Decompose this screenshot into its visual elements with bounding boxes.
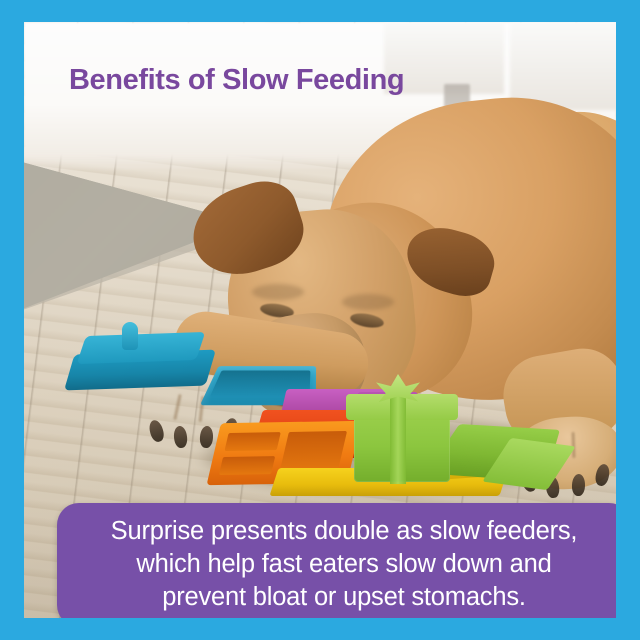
teal-feeder-top — [77, 332, 206, 364]
left-paw-claw-3 — [199, 426, 214, 449]
image-frame: Benefits of Slow Feeding Surprise presen… — [0, 0, 640, 640]
teal-feeder-knob — [122, 322, 138, 350]
dog-right-brow — [342, 294, 394, 310]
page-title: Benefits of Slow Feeding — [69, 64, 404, 97]
caption-text: Surprise presents double as slow feeders… — [57, 515, 616, 614]
green-gift-ribbon — [390, 394, 406, 484]
product-photo: Benefits of Slow Feeding Surprise presen… — [24, 22, 616, 618]
caption-banner: Surprise presents double as slow feeders… — [57, 503, 616, 618]
dog-left-brow — [252, 284, 304, 300]
caption-line-2: which help fast eaters slow down and — [57, 548, 616, 581]
caption-line-3: prevent bloat or upset stomachs. — [57, 581, 616, 614]
orange-tray-cell-2 — [219, 456, 275, 475]
right-paw-claw-3 — [572, 474, 586, 496]
caption-line-1: Surprise presents double as slow feeders… — [57, 515, 616, 548]
orange-tray-cell — [224, 432, 280, 451]
